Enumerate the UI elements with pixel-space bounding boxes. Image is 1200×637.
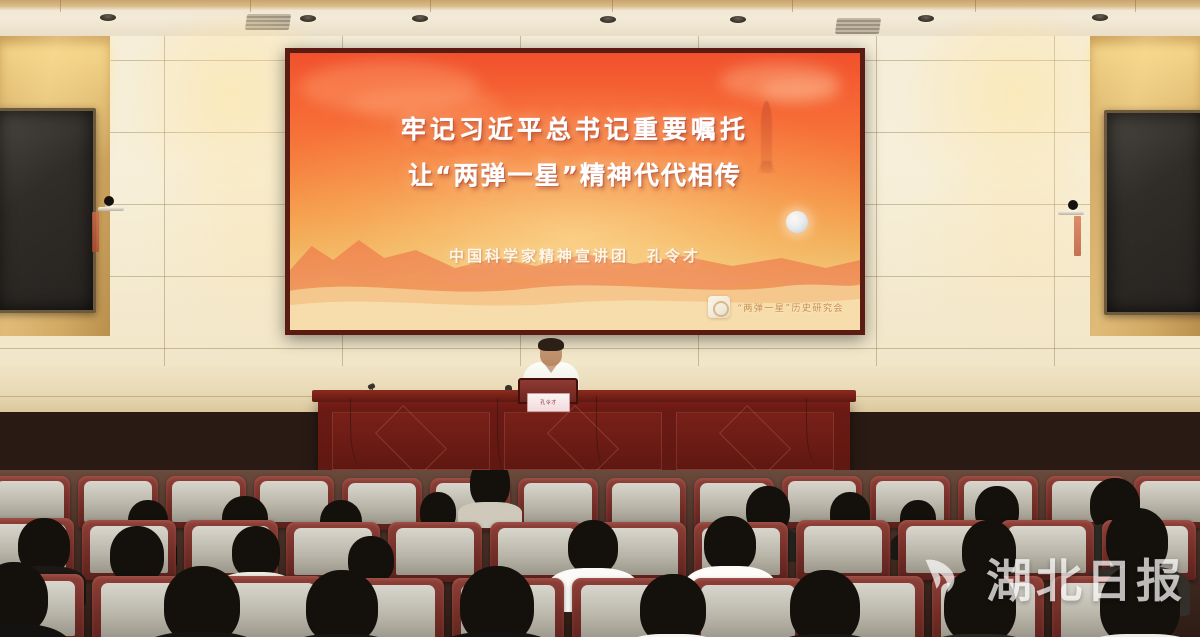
screen-logo-text: “两弹一星”历史研究会 bbox=[737, 301, 844, 314]
led-screen: 牢记习近平总书记重要嘱托 让“两弹一星”精神代代相传 中国科学家精神宣讲团 孔令… bbox=[285, 48, 865, 335]
ceiling-spotlight bbox=[600, 16, 616, 23]
research-society-logo-icon bbox=[708, 296, 730, 318]
air-vent bbox=[835, 18, 881, 34]
ceiling-spotlight bbox=[730, 16, 746, 23]
screen-title-line1: 牢记习近平总书记重要嘱托 bbox=[290, 107, 860, 153]
ceiling-spotlight bbox=[918, 15, 934, 22]
screen-logo: “两弹一星”历史研究会 bbox=[708, 296, 844, 318]
wall-strip bbox=[92, 212, 99, 252]
screen-title-line2: 让“两弹一星”精神代代相传 bbox=[290, 153, 860, 199]
screen-title: 牢记习近平总书记重要嘱托 让“两弹一星”精神代代相传 bbox=[290, 107, 860, 199]
ceiling-spotlight bbox=[300, 15, 316, 22]
led-screen-content: 牢记习近平总书记重要嘱托 让“两弹一星”精神代代相传 中国科学家精神宣讲团 孔令… bbox=[290, 53, 860, 330]
wall-bracket bbox=[1058, 211, 1084, 215]
right-display-panel bbox=[1104, 110, 1200, 315]
wall-camera-icon bbox=[1068, 200, 1078, 210]
ceiling-wood-strip bbox=[0, 0, 1200, 10]
audience-area bbox=[0, 470, 1200, 637]
wall-strip bbox=[1074, 216, 1081, 256]
wall-bracket bbox=[98, 207, 124, 211]
ceiling-spotlight bbox=[412, 15, 428, 22]
wall-camera-icon bbox=[104, 196, 114, 206]
ceiling-spotlight bbox=[1092, 14, 1108, 21]
left-display-panel bbox=[0, 108, 96, 313]
photo-scene: 牢记习近平总书记重要嘱托 让“两弹一星”精神代代相传 中国科学家精神宣讲团 孔令… bbox=[0, 0, 1200, 637]
podium-desktop bbox=[312, 390, 856, 402]
screen-subtitle: 中国科学家精神宣讲团 孔令才 bbox=[290, 245, 860, 266]
ceiling-spotlight bbox=[100, 14, 116, 21]
name-plate: 孔令才 bbox=[527, 393, 570, 412]
